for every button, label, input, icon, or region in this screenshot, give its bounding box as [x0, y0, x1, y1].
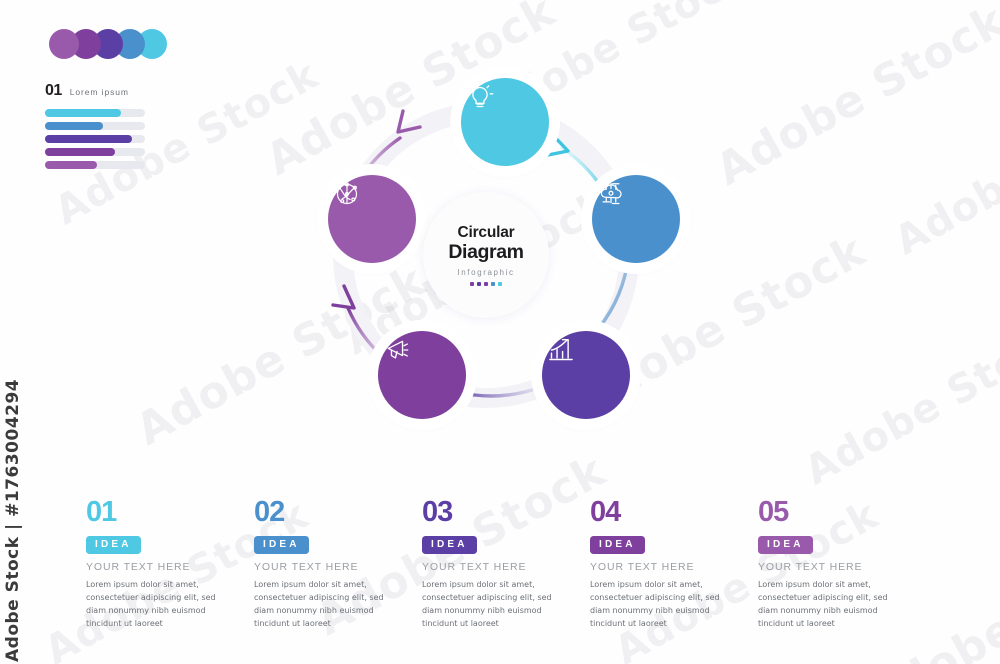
legend-bar-fill [45, 148, 115, 156]
watermark-text: Adobe Stock [708, 0, 1000, 196]
watermark-text: Adobe Stock [887, 82, 1000, 265]
hub-dot [477, 282, 482, 287]
adobe-stock-watermark: Adobe Stock | #1763004294 [0, 392, 28, 662]
legend-bar-track [45, 122, 145, 130]
description-column-02: 02IDEAYOUR TEXT HERELorem ipsum dolor si… [254, 498, 422, 630]
column-number: 03 [422, 498, 566, 527]
legend-subtitle: Lorem ipsum [70, 87, 129, 97]
description-column-03: 03IDEAYOUR TEXT HERELorem ipsum dolor si… [422, 498, 590, 630]
hub-dot [484, 282, 489, 287]
hub-title-line1: Circular [458, 224, 515, 242]
legend-bar-track [45, 109, 145, 117]
badge-wrap: IDEA [422, 527, 566, 554]
legend-bar-track [45, 135, 145, 143]
legend-bars [45, 109, 145, 169]
legend-bar-track [45, 161, 145, 169]
diagram-node-global[interactable] [328, 175, 416, 263]
diagram-hub: Circular Diagram Infographic [423, 192, 549, 318]
legend-block: 01 Lorem ipsum [45, 82, 145, 174]
column-body-text: Lorem ipsum dolor sit amet, consectetuer… [254, 578, 398, 631]
badge-wrap: IDEA [254, 527, 398, 554]
hub-dot [498, 282, 503, 287]
column-body-text: Lorem ipsum dolor sit amet, consectetuer… [86, 578, 230, 631]
column-heading: YOUR TEXT HERE [758, 561, 902, 573]
palette-dot [49, 29, 79, 59]
column-heading: YOUR TEXT HERE [254, 561, 398, 573]
description-columns: 01IDEAYOUR TEXT HERELorem ipsum dolor si… [86, 498, 926, 630]
diagram-node-promotion[interactable] [378, 331, 466, 419]
diagram-node-growth[interactable] [542, 331, 630, 419]
watermark-text: Adobe Stock [797, 312, 1000, 495]
infographic-canvas: Adobe StockAdobe StockAdobe StockAdobe S… [0, 0, 1000, 664]
diagram-node-network[interactable] [592, 175, 680, 263]
hub-subtitle: Infographic [457, 268, 514, 277]
circular-diagram: Circular Diagram Infographic [300, 70, 710, 440]
hub-dot [470, 282, 475, 287]
legend-bar-fill [45, 122, 103, 130]
badge-wrap: IDEA [758, 527, 902, 554]
idea-badge[interactable]: IDEA [254, 536, 309, 554]
hub-title-line2: Diagram [448, 241, 523, 264]
column-number: 04 [590, 498, 734, 527]
badge-wrap: IDEA [590, 527, 734, 554]
column-number: 02 [254, 498, 398, 527]
legend-heading: 01 Lorem ipsum [45, 82, 145, 100]
description-column-04: 04IDEAYOUR TEXT HERELorem ipsum dolor si… [590, 498, 758, 630]
description-column-01: 01IDEAYOUR TEXT HERELorem ipsum dolor si… [86, 498, 254, 630]
legend-number: 01 [45, 82, 62, 100]
hub-dots [470, 282, 503, 287]
legend-bar-track [45, 148, 145, 156]
palette-dots [49, 29, 159, 59]
diagram-node-idea[interactable] [461, 78, 549, 166]
idea-badge[interactable]: IDEA [758, 536, 813, 554]
column-body-text: Lorem ipsum dolor sit amet, consectetuer… [758, 578, 902, 631]
column-body-text: Lorem ipsum dolor sit amet, consectetuer… [590, 578, 734, 631]
legend-bar-fill [45, 109, 121, 117]
legend-bar-fill [45, 135, 132, 143]
column-heading: YOUR TEXT HERE [86, 561, 230, 573]
idea-badge[interactable]: IDEA [86, 536, 141, 554]
column-number: 05 [758, 498, 902, 527]
idea-badge[interactable]: IDEA [590, 536, 645, 554]
column-body-text: Lorem ipsum dolor sit amet, consectetuer… [422, 578, 566, 631]
column-heading: YOUR TEXT HERE [422, 561, 566, 573]
description-column-05: 05IDEAYOUR TEXT HERELorem ipsum dolor si… [758, 498, 926, 630]
column-heading: YOUR TEXT HERE [590, 561, 734, 573]
legend-bar-fill [45, 161, 97, 169]
idea-badge[interactable]: IDEA [422, 536, 477, 554]
hub-dot [491, 282, 496, 287]
badge-wrap: IDEA [86, 527, 230, 554]
column-number: 01 [86, 498, 230, 527]
